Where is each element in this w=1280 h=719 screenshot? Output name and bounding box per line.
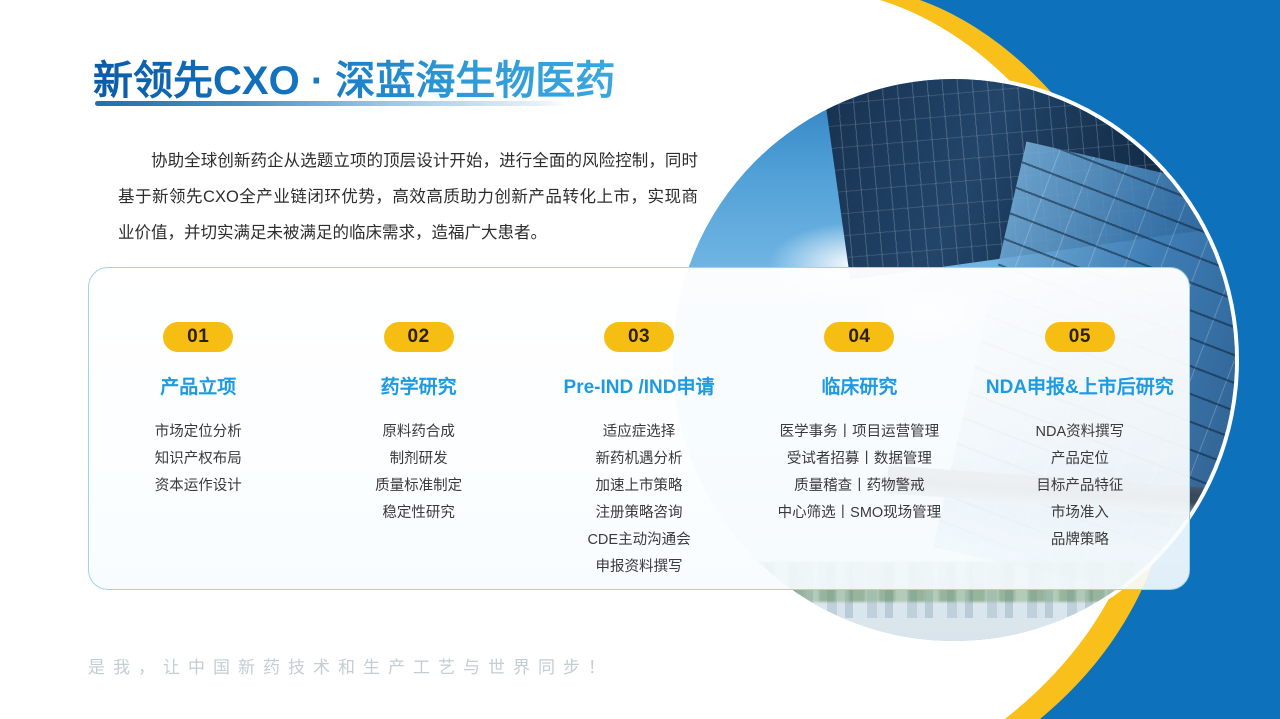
- stage-item: 市场准入: [970, 500, 1190, 527]
- stage-title: 临床研究: [749, 372, 969, 399]
- stage-item: CDE主动沟通会: [529, 527, 749, 554]
- stage-item: 加速上市策略: [529, 473, 749, 500]
- stage-column-2[interactable]: 02 药学研究 原料药合成 制剂研发 质量标准制定 稳定性研究: [308, 322, 528, 527]
- stage-title: 产品立项: [88, 372, 308, 399]
- stage-items: 原料药合成 制剂研发 质量标准制定 稳定性研究: [308, 419, 528, 527]
- stage-item: 申报资料撰写: [529, 554, 749, 581]
- stage-items: NDA资料撰写 产品定位 目标产品特征 市场准入 品牌策略: [970, 419, 1190, 554]
- stage-item: 质量稽查丨药物警戒: [749, 473, 969, 500]
- stage-item: 目标产品特征: [970, 473, 1190, 500]
- page-title: 新领先CXO · 深蓝海生物医药: [93, 48, 615, 106]
- lead-paragraph: 协助全球创新药企从选题立项的顶层设计开始，进行全面的风险控制，同时基于新领先CX…: [118, 143, 698, 251]
- stage-item: 知识产权布局: [88, 446, 308, 473]
- stage-item: NDA资料撰写: [970, 419, 1190, 446]
- stage-item: 市场定位分析: [88, 419, 308, 446]
- stage-items: 市场定位分析 知识产权布局 资本运作设计: [88, 419, 308, 500]
- stage-column-4[interactable]: 04 临床研究 医学事务丨项目运营管理 受试者招募丨数据管理 质量稽查丨药物警戒…: [749, 322, 969, 527]
- stage-badge: 03: [604, 322, 674, 352]
- stage-column-5[interactable]: 05 NDA申报&上市后研究 NDA资料撰写 产品定位 目标产品特征 市场准入 …: [970, 322, 1190, 554]
- stage-title: Pre-IND /IND申请: [529, 372, 749, 399]
- stage-item: 适应症选择: [529, 419, 749, 446]
- slide-canvas: 新领先CXO · 深蓝海生物医药 协助全球创新药企从选题立项的顶层设计开始，进行…: [0, 0, 1280, 719]
- stage-column-1[interactable]: 01 产品立项 市场定位分析 知识产权布局 资本运作设计: [88, 322, 308, 500]
- stages-columns: 01 产品立项 市场定位分析 知识产权布局 资本运作设计 02 药学研究 原料药…: [88, 267, 1190, 590]
- stage-badge: 05: [1045, 322, 1115, 352]
- stage-item: 受试者招募丨数据管理: [749, 446, 969, 473]
- stage-column-3[interactable]: 03 Pre-IND /IND申请 适应症选择 新药机遇分析 加速上市策略 注册…: [529, 322, 749, 581]
- stage-badge: 01: [163, 322, 233, 352]
- footer-tagline: 是我，让中国新药技术和生产工艺与世界同步！: [88, 653, 613, 678]
- stage-item: 产品定位: [970, 446, 1190, 473]
- stage-title: NDA申报&上市后研究: [970, 372, 1190, 399]
- stage-items: 医学事务丨项目运营管理 受试者招募丨数据管理 质量稽查丨药物警戒 中心筛选丨SM…: [749, 419, 969, 527]
- stage-item: 注册策略咨询: [529, 500, 749, 527]
- stage-item: 资本运作设计: [88, 473, 308, 500]
- stage-items: 适应症选择 新药机遇分析 加速上市策略 注册策略咨询 CDE主动沟通会 申报资料…: [529, 419, 749, 581]
- stage-item: 新药机遇分析: [529, 446, 749, 473]
- stage-badge: 02: [384, 322, 454, 352]
- stage-item: 医学事务丨项目运营管理: [749, 419, 969, 446]
- stage-item: 中心筛选丨SMO现场管理: [749, 500, 969, 527]
- stage-item: 稳定性研究: [308, 500, 528, 527]
- stage-item: 原料药合成: [308, 419, 528, 446]
- stage-item: 制剂研发: [308, 446, 528, 473]
- stage-badge: 04: [824, 322, 894, 352]
- stage-item: 品牌策略: [970, 527, 1190, 554]
- stage-item: 质量标准制定: [308, 473, 528, 500]
- stage-title: 药学研究: [308, 372, 528, 399]
- title-underline: [95, 101, 570, 106]
